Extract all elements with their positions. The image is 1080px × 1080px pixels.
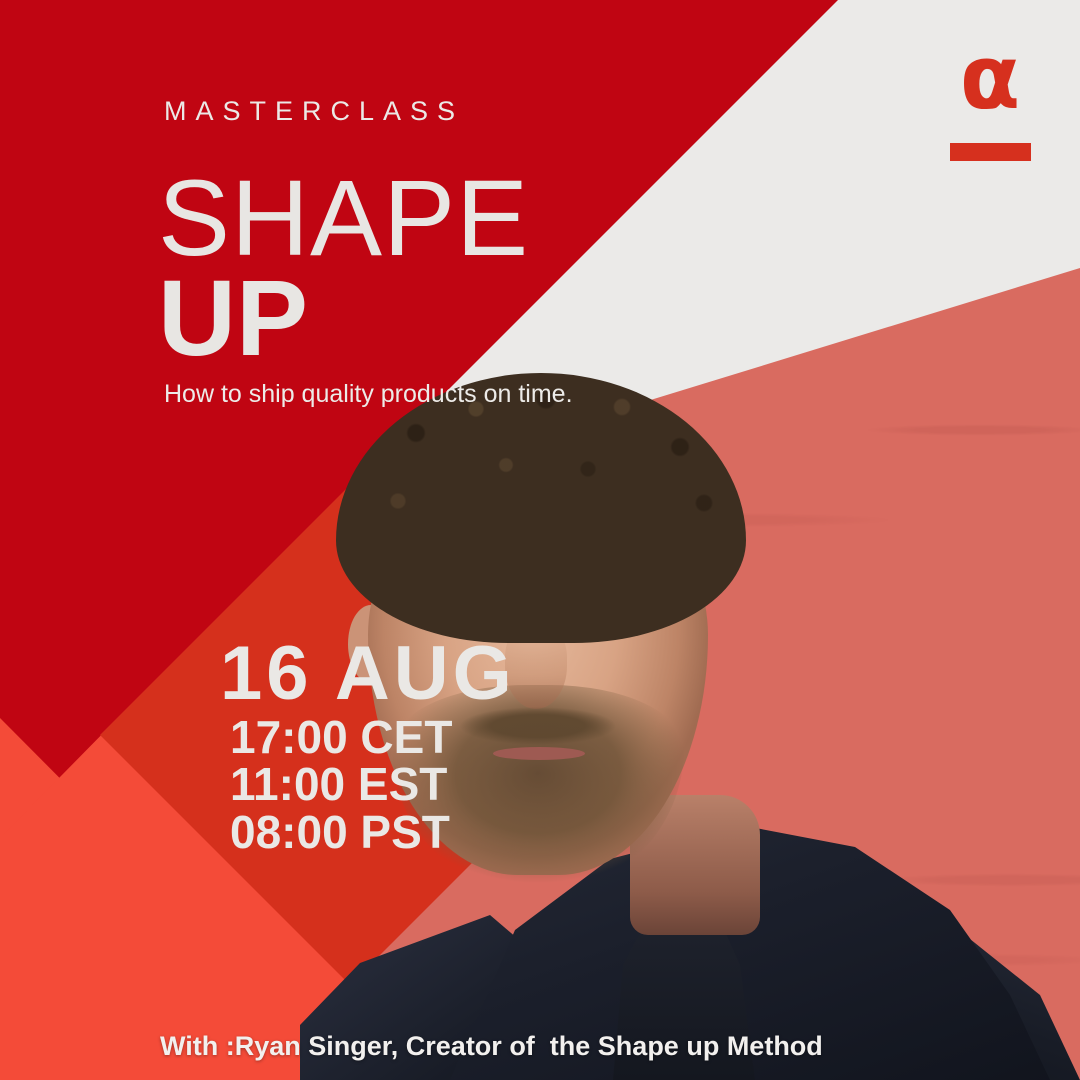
event-time-cet: 17:00 CET [230,714,600,761]
logo-underline-bar [950,143,1031,161]
speaker-credit: With :Ryan Singer, Creator of the Shape … [160,1031,823,1062]
portrait-hair [336,373,746,643]
event-date: 16 AUG [100,636,600,712]
brand-logo[interactable]: α [940,38,1040,161]
event-time-est: 11:00 EST [230,761,600,808]
event-time-pst: 08:00 PST [230,809,600,856]
headline-line-2: UP [158,268,529,368]
headline-line-1: SHAPE [158,168,529,268]
event-schedule: 16 AUG 17:00 CET 11:00 EST 08:00 PST [100,636,600,856]
eyebrow-label: MASTERCLASS [164,96,464,127]
page-title: SHAPE UP [158,168,529,369]
event-timezones: 17:00 CET 11:00 EST 08:00 PST [100,714,600,856]
poster-canvas: α MASTERCLASS SHAPE UP How to ship quali… [0,0,1080,1080]
tagline-text: How to ship quality products on time. [164,380,573,409]
alpha-logo-icon: α [940,38,1040,119]
portrait-hair-texture [336,373,746,643]
